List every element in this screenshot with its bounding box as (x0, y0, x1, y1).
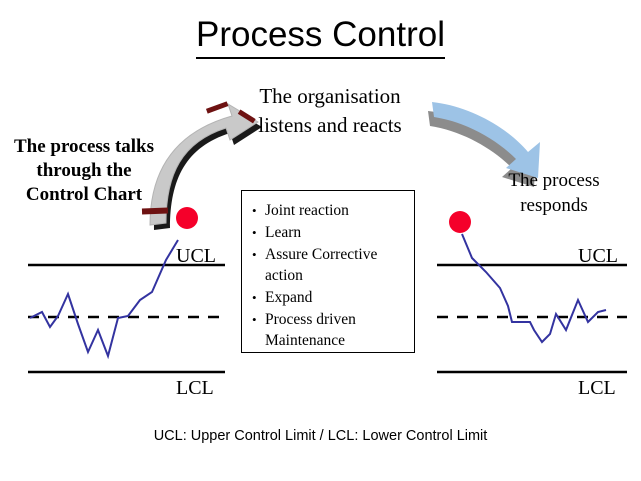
caption-process-talks: The process talks through the Control Ch… (4, 135, 164, 207)
ucl-label-right: UCL (578, 246, 618, 266)
page-title-text: Process Control (196, 14, 445, 59)
footer-legend: UCL: Upper Control Limit / LCL: Lower Co… (0, 428, 641, 444)
list-item: Joint reaction (252, 200, 410, 221)
list-item: Process driven Maintenance (252, 309, 410, 351)
actions-box: Joint reaction Learn Assure Corrective a… (241, 190, 415, 353)
lcl-label-right: LCL (578, 378, 616, 398)
series-line (30, 240, 178, 356)
control-chart-left (28, 207, 225, 372)
alarm-point (449, 211, 471, 233)
caption-process-responds: The process responds (478, 168, 630, 218)
list-item: Expand (252, 287, 410, 308)
slide-canvas: Process Control The process talks throug… (0, 0, 641, 481)
lcl-label-left: LCL (176, 378, 214, 398)
list-item: Learn (252, 222, 410, 243)
ucl-label-left: UCL (176, 246, 216, 266)
page-title: Process Control (0, 14, 641, 59)
actions-list: Joint reaction Learn Assure Corrective a… (242, 191, 414, 351)
caption-organisation: The organisation listens and reacts (232, 82, 428, 140)
alarm-point (176, 207, 198, 229)
list-item: Assure Corrective action (252, 244, 410, 286)
control-chart-right (437, 211, 627, 372)
